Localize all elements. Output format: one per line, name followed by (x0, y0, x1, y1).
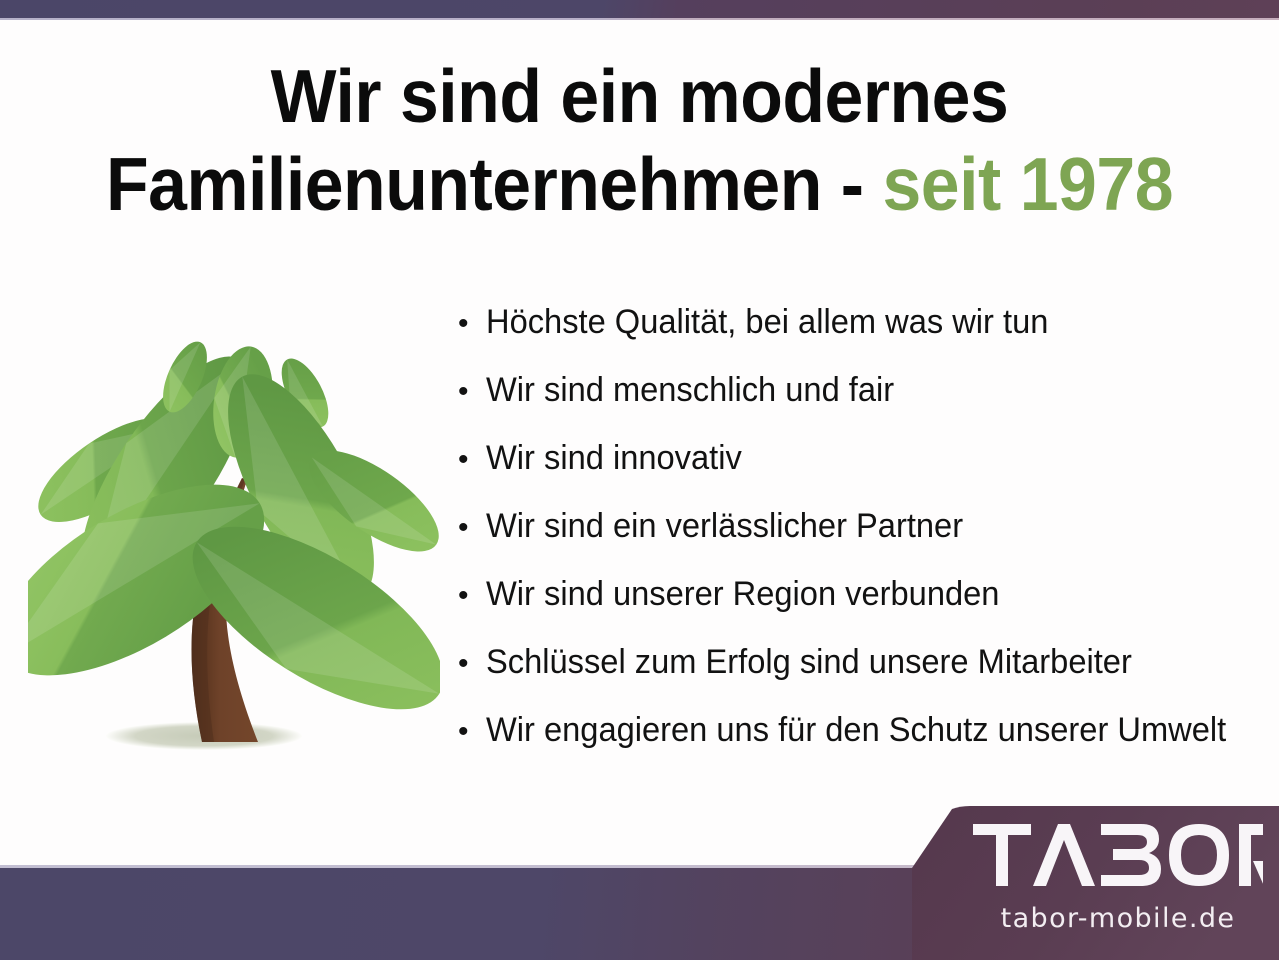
list-item-label: Höchste Qualität, bei allem was wir tun (486, 300, 1048, 344)
logo-letter-o (1169, 824, 1229, 886)
logo-letter-a (1033, 824, 1095, 886)
list-item-label: Wir sind unserer Region verbunden (486, 572, 999, 616)
slide-canvas: Wir sind ein modernes Familienunternehme… (0, 0, 1279, 960)
list-item-label: Wir sind innovativ (486, 436, 742, 480)
slide-title: Wir sind ein modernes Familienunternehme… (45, 52, 1234, 228)
slide-title-accent: seit 1978 (882, 142, 1173, 226)
list-item-label: Schlüssel zum Erfolg sind unsere Mitarbe… (486, 640, 1132, 684)
slide-title-line-2-prefix: Familienunternehmen - (106, 142, 883, 226)
bullet-marker-icon: • (452, 506, 486, 550)
bullet-marker-icon: • (452, 370, 486, 414)
list-item: • Wir sind unserer Region verbunden (452, 572, 1272, 640)
list-item: • Höchste Qualität, bei allem was wir tu… (452, 300, 1272, 368)
logo-letter-b (1101, 824, 1161, 886)
list-item-label: Wir engagieren uns für den Schutz unsere… (486, 708, 1226, 752)
list-item: • Wir sind innovativ (452, 436, 1272, 504)
value-bullet-list: • Höchste Qualität, bei allem was wir tu… (452, 300, 1272, 776)
tree-logo-illustration (28, 330, 440, 762)
slide-title-line-2: Familienunternehmen - seit 1978 (45, 140, 1234, 228)
list-item: • Schlüssel zum Erfolg sind unsere Mitar… (452, 640, 1272, 708)
list-item: • Wir sind menschlich und fair (452, 368, 1272, 436)
bullet-marker-icon: • (452, 302, 486, 346)
bullet-marker-icon: • (452, 642, 486, 686)
bullet-marker-icon: • (452, 574, 486, 618)
list-item: • Wir sind ein verlässlicher Partner (452, 504, 1272, 572)
list-item: • Wir engagieren uns für den Schutz unse… (452, 708, 1272, 776)
logo-letter-t (973, 824, 1031, 886)
top-accent-bar (0, 0, 1279, 18)
list-item-label: Wir sind ein verlässlicher Partner (486, 504, 963, 548)
top-accent-hairline (0, 18, 1279, 20)
list-item-label: Wir sind menschlich und fair (486, 368, 894, 412)
logo-wordmark (973, 824, 1263, 886)
bullet-marker-icon: • (452, 438, 486, 482)
bullet-marker-icon: • (452, 710, 486, 754)
logo-letter-r-final (1239, 824, 1263, 886)
slide-title-line-1: Wir sind ein modernes (45, 52, 1234, 140)
logo-url: tabor-mobile.de (972, 903, 1264, 935)
